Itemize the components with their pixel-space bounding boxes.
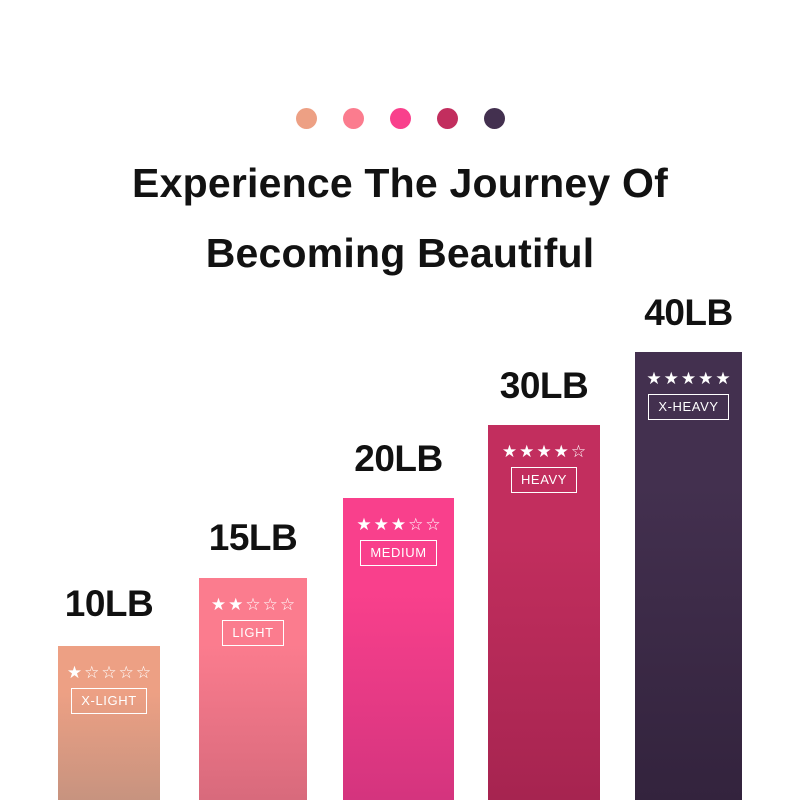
- star-filled-icon: ★: [374, 516, 389, 533]
- bar-badge: ★★★☆☆MEDIUM: [343, 516, 454, 566]
- star-empty-icon: ☆: [101, 664, 116, 681]
- star-filled-icon: ★: [536, 443, 551, 460]
- star-filled-icon: ★: [211, 596, 226, 613]
- star-filled-icon: ★: [646, 370, 661, 387]
- tier-label: LIGHT: [222, 620, 283, 646]
- bar-badge: ★★★★★X-HEAVY: [635, 370, 742, 420]
- star-rating-icon: ★★★★☆: [502, 443, 586, 460]
- bar-badge: ★☆☆☆☆X-LIGHT: [58, 664, 160, 714]
- bar-group-15lb[interactable]: 15LB★★☆☆☆LIGHT: [199, 519, 307, 800]
- bar-value-label: 15LB: [209, 519, 297, 557]
- star-empty-icon: ☆: [571, 443, 586, 460]
- star-empty-icon: ☆: [136, 664, 151, 681]
- tier-label: HEAVY: [511, 467, 577, 493]
- star-empty-icon: ☆: [425, 516, 440, 533]
- tier-label: X-HEAVY: [648, 394, 728, 420]
- star-empty-icon: ☆: [280, 596, 295, 613]
- star-empty-icon: ☆: [408, 516, 423, 533]
- star-empty-icon: ☆: [245, 596, 260, 613]
- bar-value-label: 40LB: [644, 294, 732, 332]
- star-filled-icon: ★: [228, 596, 243, 613]
- star-filled-icon: ★: [698, 370, 713, 387]
- bar-group-10lb[interactable]: 10LB★☆☆☆☆X-LIGHT: [58, 585, 160, 800]
- star-rating-icon: ★★★☆☆: [356, 516, 440, 533]
- bar-group-40lb[interactable]: 40LB★★★★★X-HEAVY: [635, 294, 742, 800]
- bar-badge: ★★★★☆HEAVY: [488, 443, 600, 493]
- star-empty-icon: ☆: [84, 664, 99, 681]
- star-rating-icon: ★★★★★: [646, 370, 730, 387]
- star-rating-icon: ★★☆☆☆: [211, 596, 295, 613]
- star-filled-icon: ★: [356, 516, 371, 533]
- star-filled-icon: ★: [715, 370, 730, 387]
- bar-group-30lb[interactable]: 30LB★★★★☆HEAVY: [488, 367, 600, 800]
- star-filled-icon: ★: [664, 370, 679, 387]
- star-empty-icon: ☆: [119, 664, 134, 681]
- tier-label: MEDIUM: [360, 540, 436, 566]
- star-filled-icon: ★: [502, 443, 517, 460]
- bar-group-20lb[interactable]: 20LB★★★☆☆MEDIUM: [343, 440, 454, 800]
- star-empty-icon: ☆: [263, 596, 278, 613]
- star-rating-icon: ★☆☆☆☆: [67, 664, 151, 681]
- bar-body[interactable]: ★★☆☆☆LIGHT: [199, 578, 307, 800]
- bar-body[interactable]: ★★★★☆HEAVY: [488, 425, 600, 800]
- star-filled-icon: ★: [681, 370, 696, 387]
- tier-label: X-LIGHT: [71, 688, 146, 714]
- bar-body[interactable]: ★★★☆☆MEDIUM: [343, 498, 454, 800]
- bar-body[interactable]: ★☆☆☆☆X-LIGHT: [58, 646, 160, 800]
- resistance-band-bar-chart: 10LB★☆☆☆☆X-LIGHT15LB★★☆☆☆LIGHT20LB★★★☆☆M…: [0, 0, 800, 800]
- star-filled-icon: ★: [554, 443, 569, 460]
- star-filled-icon: ★: [391, 516, 406, 533]
- bar-value-label: 10LB: [65, 585, 153, 623]
- bar-body[interactable]: ★★★★★X-HEAVY: [635, 352, 742, 800]
- bar-value-label: 20LB: [354, 440, 442, 478]
- bar-badge: ★★☆☆☆LIGHT: [199, 596, 307, 646]
- star-filled-icon: ★: [519, 443, 534, 460]
- bar-value-label: 30LB: [500, 367, 588, 405]
- star-filled-icon: ★: [67, 664, 82, 681]
